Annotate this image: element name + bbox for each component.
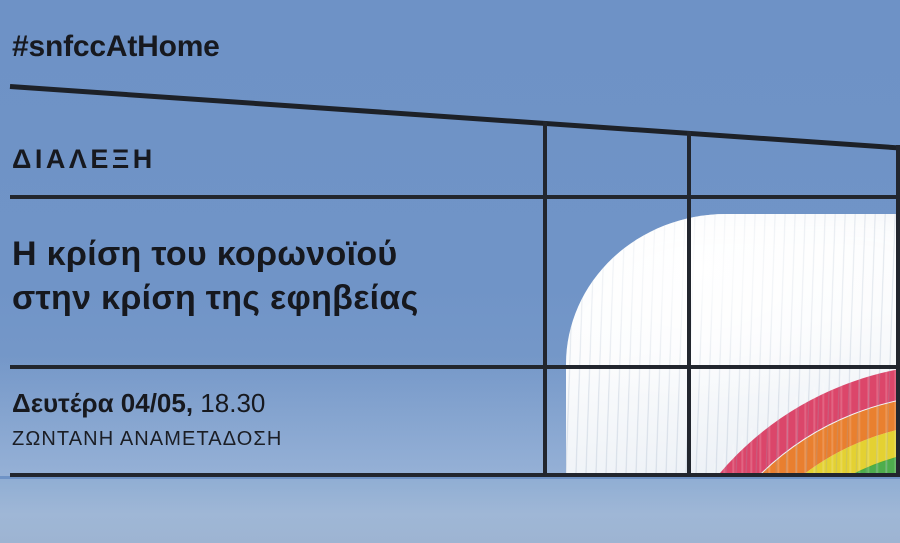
event-datetime: Δευτέρα 04/05, 18.30 (12, 388, 265, 419)
facade-horizontal-rail-upper (10, 195, 900, 199)
facade-horizontal-rail-lower (10, 473, 900, 477)
title-line-2: στην κρίση της εφηβείας (12, 277, 419, 321)
event-type-label: ΔΙΑΛΕΞΗ (12, 144, 156, 175)
facade-vertical-mullion-edge (896, 145, 900, 475)
sail-highlight (566, 214, 900, 476)
title-line-1: Η κρίση του κορωνοϊού (12, 233, 419, 277)
event-time: 18.30 (193, 388, 265, 418)
event-date: Δευτέρα 04/05, (12, 388, 193, 418)
page-title: Η κρίση του κορωνοϊού στην κρίση της εφη… (12, 233, 419, 320)
sail-surface (566, 214, 900, 476)
bottom-strip (0, 479, 900, 543)
facade-vertical-mullion-right (687, 131, 691, 475)
facade-horizontal-rail-middle (10, 365, 900, 369)
hashtag-label: #snfccAtHome (12, 30, 220, 64)
white-inflatable-sail-structure (556, 196, 900, 476)
facade-vertical-mullion-left (543, 121, 547, 475)
event-poster: #snfccAtHome ΔΙΑΛΕΞΗ Η κρίση του κορωνοϊ… (0, 0, 900, 543)
broadcast-note: ΖΩΝΤΑΝΗ ΑΝΑΜΕΤΑΔΟΣΗ (12, 428, 282, 451)
